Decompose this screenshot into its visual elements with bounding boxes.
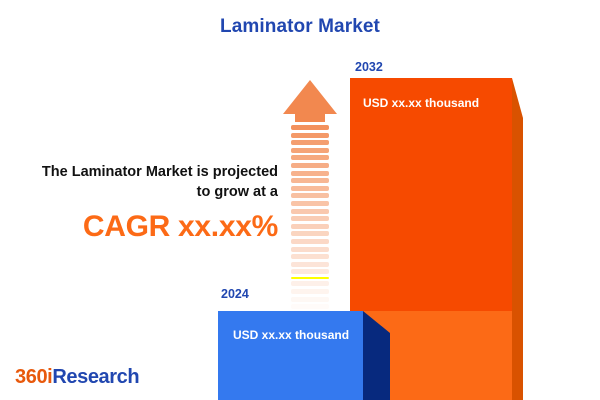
bar-label-2032: 2032 <box>355 60 383 74</box>
arrow-segment <box>291 193 329 198</box>
cagr-value: CAGR xx.xx% <box>28 211 278 243</box>
growth-arrow-icon <box>283 80 337 292</box>
page-title: Laminator Market <box>0 16 600 38</box>
arrow-segment <box>291 148 329 153</box>
arrow-segment <box>291 262 329 267</box>
callout-line-2: to grow at a <box>197 184 278 200</box>
infographic-canvas: Laminator Market The Laminator Market is… <box>0 0 600 400</box>
bar-label-2024: 2024 <box>221 287 249 301</box>
arrow-segment <box>291 140 329 145</box>
logo-text-research: Research <box>52 366 139 388</box>
bar-2032-front-upper <box>350 78 512 311</box>
arrow-segment <box>291 209 329 214</box>
arrow-neck <box>295 113 325 122</box>
arrow-segment <box>291 269 329 274</box>
bar-2032-side-face <box>512 78 523 400</box>
cagr-callout: The Laminator Market is projected to gro… <box>28 163 278 243</box>
bar-2024-front-face <box>218 311 363 400</box>
arrow-segment <box>291 254 329 259</box>
arrow-segment <box>291 178 329 183</box>
logo-text-360i: 360i <box>15 366 52 388</box>
arrow-segment <box>291 231 329 236</box>
arrow-segment <box>291 155 329 160</box>
arrow-segment <box>291 171 329 176</box>
arrow-segment <box>291 201 329 206</box>
arrow-segment <box>291 297 329 302</box>
arrow-segment <box>291 224 329 229</box>
bar-value-2024: USD xx.xx thousand <box>233 328 349 342</box>
arrow-segment <box>291 277 329 279</box>
bar-value-2032: USD xx.xx thousand <box>363 96 479 110</box>
arrow-segment <box>291 133 329 138</box>
arrow-segment <box>291 216 329 221</box>
arrow-segment <box>291 186 329 191</box>
arrow-segment <box>291 125 329 130</box>
arrow-segment <box>291 304 329 309</box>
callout-line-1: The Laminator Market is projected <box>42 164 278 180</box>
arrow-segment-stack <box>291 125 329 319</box>
arrow-segment <box>291 239 329 244</box>
arrow-segment <box>291 163 329 168</box>
arrow-segment <box>291 281 329 286</box>
arrow-segment <box>291 289 329 294</box>
callout-text: The Laminator Market is projected to gro… <box>28 163 278 202</box>
arrow-segment <box>291 247 329 252</box>
brand-logo: 360iResearch <box>15 366 139 389</box>
